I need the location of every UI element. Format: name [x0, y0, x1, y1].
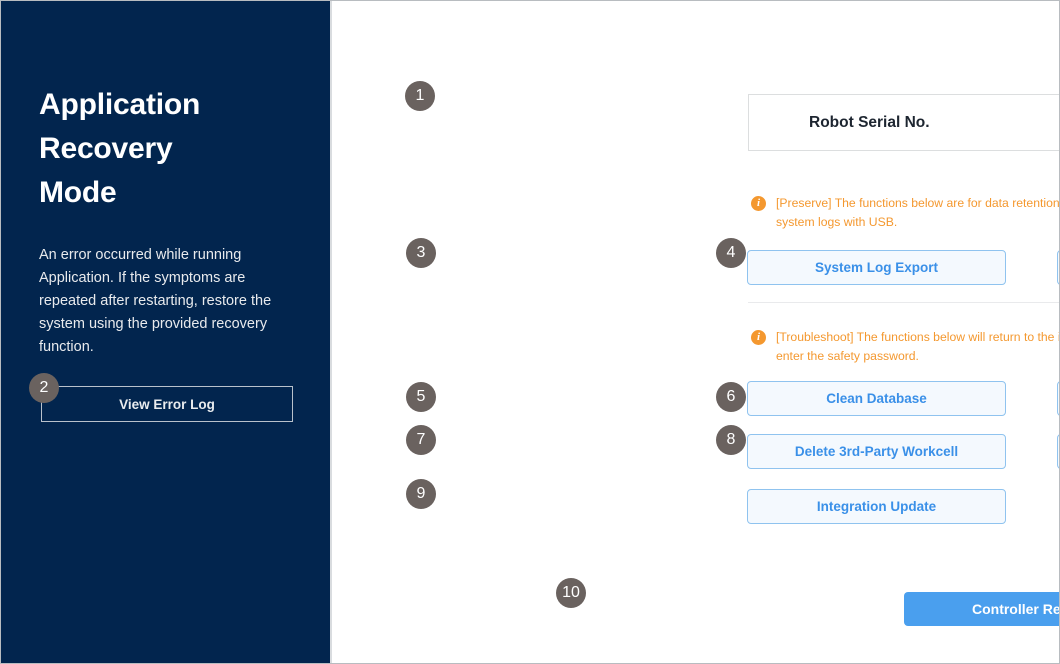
robot-serial-panel: Robot Serial No. XXXXXX-MXXXX — [748, 94, 1060, 151]
sidebar-panel: Application Recovery Mode An error occur… — [1, 1, 332, 663]
info-icon: i — [751, 196, 766, 211]
page-title-line-1: Application — [39, 83, 289, 127]
page-title-line-2: Recovery — [39, 127, 289, 171]
troubleshoot-notice-text: [Troubleshoot] The functions below will … — [776, 328, 1060, 366]
preserve-notice-text: [Preserve] The functions below are for d… — [776, 194, 1060, 232]
integration-update-button[interactable]: Integration Update — [747, 489, 1006, 524]
step-badge-3: 3 — [406, 238, 436, 268]
step-badge-8: 8 — [716, 425, 746, 455]
step-badge-5: 5 — [406, 382, 436, 412]
step-badge-4: 4 — [716, 238, 746, 268]
view-error-log-button[interactable]: View Error Log — [41, 386, 293, 422]
application-recovery-mode-screen: Application Recovery Mode An error occur… — [0, 0, 1060, 664]
controller-restart-button[interactable]: Controller Restart — [904, 592, 1060, 626]
step-badge-7: 7 — [406, 425, 436, 455]
delete-3rd-party-workcell-button[interactable]: Delete 3rd-Party Workcell — [747, 434, 1006, 469]
step-badge-2: 2 — [29, 373, 59, 403]
error-description-text: An error occurred while running Applicat… — [39, 244, 297, 359]
system-log-export-button[interactable]: System Log Export — [747, 250, 1006, 285]
step-badge-10: 10 — [556, 578, 586, 608]
step-badge-6: 6 — [716, 382, 746, 412]
step-badge-1: 1 — [405, 81, 435, 111]
content-panel: 1 Robot Serial No. XXXXXX-MXXXX i [Prese… — [334, 1, 1059, 663]
clean-database-button[interactable]: Clean Database — [747, 381, 1006, 416]
page-title-line-3: Mode — [39, 171, 289, 215]
preserve-notice: i [Preserve] The functions below are for… — [751, 194, 1060, 232]
section-divider — [748, 302, 1060, 303]
page-title: Application Recovery Mode — [39, 83, 289, 215]
troubleshoot-notice: i [Troubleshoot] The functions below wil… — [751, 328, 1060, 366]
robot-serial-label: Robot Serial No. — [809, 114, 930, 132]
info-icon: i — [751, 330, 766, 345]
step-badge-9: 9 — [406, 479, 436, 509]
